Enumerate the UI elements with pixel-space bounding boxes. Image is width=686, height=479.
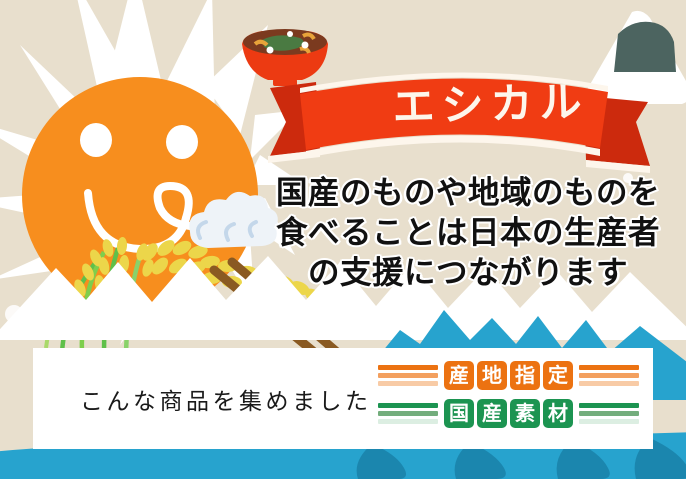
- badge-bars-right: [579, 365, 639, 386]
- ethical-promo-banner: エシカル 国産のものや地域のものを 食べることは日本の生産者 の支援につながりま…: [0, 0, 686, 479]
- badge-bar-3: [378, 419, 438, 424]
- badge-char: 地: [477, 361, 507, 390]
- panel-caption: こんな商品を集めました: [80, 382, 372, 416]
- ribbon-label: エシカル: [269, 52, 686, 154]
- badge-bars-right: [579, 403, 639, 424]
- badge-bar-2: [579, 373, 639, 378]
- badge-char: 産: [444, 361, 474, 390]
- badge-char: 素: [510, 399, 540, 428]
- badge-char: 産: [477, 399, 507, 428]
- badge-bar-2: [378, 373, 438, 378]
- sun-eye-right: [166, 125, 198, 159]
- headline-text: 国産のものや地域のものを 食べることは日本の生産者 の支援につながります: [258, 172, 678, 292]
- badge-bar-1: [579, 403, 639, 408]
- badge-bar-2: [579, 411, 639, 416]
- badge-origin-specified: 産 地 指 定: [378, 361, 639, 390]
- sun-eye-left: [80, 123, 112, 157]
- badge-char: 定: [543, 361, 573, 390]
- badge-char: 国: [444, 399, 474, 428]
- badge-bar-1: [378, 365, 438, 370]
- badge-chars: 産 地 指 定: [444, 361, 573, 390]
- badge-bar-1: [579, 365, 639, 370]
- headline-line-3: の支援につながります: [258, 252, 678, 292]
- badge-bars-left: [378, 403, 438, 424]
- headline-line-1: 国産のものや地域のものを: [258, 172, 678, 212]
- badge-bars-left: [378, 365, 438, 386]
- badge-bar-3: [579, 419, 639, 424]
- badge-char: 指: [510, 361, 540, 390]
- ribbon-label-wrap: エシカル: [270, 58, 686, 168]
- badge-bar-3: [378, 381, 438, 386]
- badge-bar-2: [378, 411, 438, 416]
- badge-char: 材: [543, 399, 573, 428]
- badge-chars: 国 産 素 材: [444, 399, 573, 428]
- badge-bar-1: [378, 403, 438, 408]
- badge-group: 産 地 指 定 国 産 素 材: [378, 361, 639, 428]
- headline-line-2: 食べることは日本の生産者: [258, 212, 678, 252]
- badge-domestic-material: 国 産 素 材: [378, 399, 639, 428]
- badge-bar-3: [579, 381, 639, 386]
